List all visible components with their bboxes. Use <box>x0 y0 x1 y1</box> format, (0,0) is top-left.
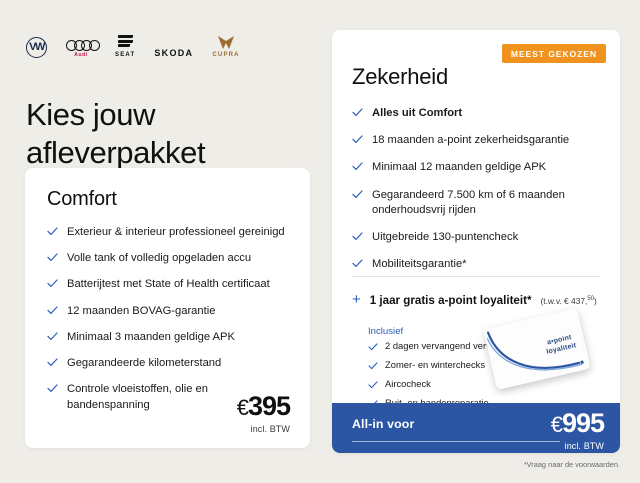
check-icon <box>47 384 58 393</box>
list-item: Gegarandeerd 7.500 km of 6 maanden onder… <box>352 188 602 218</box>
list-item-label: Aircocheck <box>385 378 431 389</box>
seat-icon <box>118 35 133 50</box>
comfort-title: Comfort <box>47 188 310 211</box>
currency-symbol: € <box>551 412 562 437</box>
list-item: Batterijtest met State of Health certifi… <box>47 277 289 292</box>
zekerheid-price-bar: All-in voor €995 incl. BTW <box>332 403 620 453</box>
list-item-label: Zomer- en winterchecks <box>385 359 485 370</box>
skoda-wordmark: SKODA <box>154 48 193 58</box>
check-icon <box>368 362 378 370</box>
list-item: 18 maanden a-point zekerheidsgarantie <box>352 133 602 148</box>
price-amount: 995 <box>562 408 604 438</box>
list-item: Minimaal 12 maanden geldige APK <box>352 160 602 175</box>
list-item: 2 dagen vervangend vervoer <box>368 340 504 351</box>
check-icon <box>352 108 363 117</box>
list-item: Exterieur & interieur professioneel gere… <box>47 225 289 240</box>
comfort-price-block: €395 incl. BTW <box>237 393 290 434</box>
allin-label: All-in voor <box>352 417 414 431</box>
audi-wordmark: Audi <box>74 52 88 58</box>
zekerheid-feature-list: Alles uit Comfort 18 maanden a-point zek… <box>352 106 602 273</box>
list-item: Aircocheck <box>368 378 504 389</box>
comfort-package-card[interactable]: Comfort Exterieur & interieur profession… <box>25 168 310 448</box>
list-item-label: 12 maanden BOVAG-garantie <box>67 304 215 319</box>
cupra-logo: CUPRA <box>212 35 239 58</box>
list-item: Volle tank of volledig opgeladen accu <box>47 251 289 266</box>
page-title: Kies jouw afleverpakket <box>26 96 296 172</box>
footnote: *Vraag naar de voorwaarden. <box>524 460 620 469</box>
check-icon <box>352 190 363 199</box>
status-badge: MEEST GEKOZEN <box>502 44 606 63</box>
check-icon <box>47 306 58 315</box>
list-item-label: Gegarandeerde kilometerstand <box>67 356 221 371</box>
check-icon <box>352 162 363 171</box>
check-icon <box>47 253 58 262</box>
check-icon <box>47 358 58 367</box>
cupra-icon <box>217 35 235 50</box>
brand-logo-strip: VW Audi SEAT SKODA CUPRA <box>26 28 240 58</box>
cupra-wordmark: CUPRA <box>212 52 239 58</box>
loyalty-value-prefix: (t.w.v. € 437, <box>540 296 587 306</box>
zekerheid-package-card[interactable]: MEEST GEKOZEN Zekerheid Alles uit Comfor… <box>332 30 620 453</box>
check-icon <box>47 279 58 288</box>
volkswagen-logo: VW <box>26 37 47 58</box>
list-item: Uitgebreide 130-puntencheck <box>352 230 602 245</box>
audi-logo: Audi <box>66 40 96 58</box>
list-item: Zomer- en winterchecks <box>368 359 504 370</box>
list-item-label: Alles uit Comfort <box>372 106 462 121</box>
price-amount: 395 <box>248 391 290 421</box>
zekerheid-price-block: €995 incl. BTW <box>551 410 604 451</box>
loyalty-offer-row: + 1 jaar gratis a-point loyaliteit* (t.w… <box>352 292 604 307</box>
check-icon <box>352 259 363 268</box>
list-item-label: Volle tank of volledig opgeladen accu <box>67 251 251 266</box>
loyalty-value-suffix: ) <box>594 296 597 306</box>
list-item-label: Exterieur & interieur professioneel gere… <box>67 225 285 240</box>
divider <box>352 276 600 277</box>
list-item-label: Batterijtest met State of Health certifi… <box>67 277 270 292</box>
list-item-label: Gegarandeerd 7.500 km of 6 maanden onder… <box>372 188 602 218</box>
check-icon <box>368 343 378 351</box>
list-item: Minimaal 3 maanden geldige APK <box>47 330 289 345</box>
list-item-label: Minimaal 12 maanden geldige APK <box>372 160 546 175</box>
list-item: Alles uit Comfort <box>352 106 602 121</box>
plus-icon: + <box>352 292 361 307</box>
skoda-logo: SKODA <box>154 48 193 58</box>
check-icon <box>47 332 58 341</box>
zekerheid-title: Zekerheid <box>352 64 620 90</box>
list-item-label: Minimaal 3 maanden geldige APK <box>67 330 235 345</box>
check-icon <box>368 381 378 389</box>
check-icon <box>352 135 363 144</box>
comfort-feature-list: Exterieur & interieur professioneel gere… <box>47 225 289 413</box>
list-item-label: 18 maanden a-point zekerheidsgarantie <box>372 133 569 148</box>
comfort-price: €395 <box>237 393 290 420</box>
zekerheid-price: €995 <box>551 410 604 437</box>
afleverpakket-page: VW Audi SEAT SKODA CUPRA Kies jouw aflev… <box>0 0 640 483</box>
list-item: Gegarandeerde kilometerstand <box>47 356 289 371</box>
loyalty-label: 1 jaar gratis a-point loyaliteit* <box>370 294 532 307</box>
seat-wordmark: SEAT <box>115 52 135 58</box>
check-icon <box>47 227 58 236</box>
loyalty-value: (t.w.v. € 437,50) <box>540 296 596 306</box>
list-item-label: Uitgebreide 130-puntencheck <box>372 230 518 245</box>
check-icon <box>352 232 363 241</box>
comfort-price-note: incl. BTW <box>237 424 290 434</box>
list-item-label: Mobiliteitsgarantie* <box>372 257 467 272</box>
divider <box>352 441 560 442</box>
list-item: Mobiliteitsgarantie* <box>352 257 602 272</box>
inclusief-heading: Inclusief <box>368 326 403 337</box>
list-item: 12 maanden BOVAG-garantie <box>47 304 289 319</box>
zekerheid-price-note: incl. BTW <box>551 441 604 451</box>
seat-logo: SEAT <box>115 35 135 58</box>
currency-symbol: € <box>237 395 248 420</box>
audi-rings-icon <box>66 40 96 51</box>
vw-icon: VW <box>26 37 47 58</box>
